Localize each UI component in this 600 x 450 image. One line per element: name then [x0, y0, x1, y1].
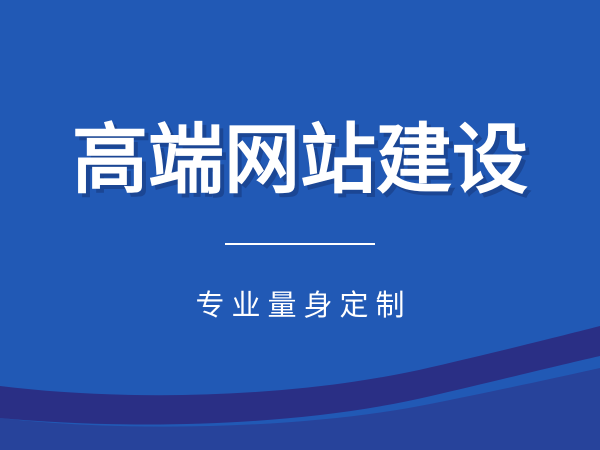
- banner-title: 高端网站建设: [0, 116, 600, 206]
- title-divider: [225, 243, 375, 245]
- banner-content: 高端网站建设 专业量身定制: [0, 0, 600, 450]
- banner-subtitle: 专业量身定制: [0, 288, 600, 324]
- divider-container: [0, 243, 600, 245]
- promo-banner: 高端网站建设 专业量身定制: [0, 0, 600, 450]
